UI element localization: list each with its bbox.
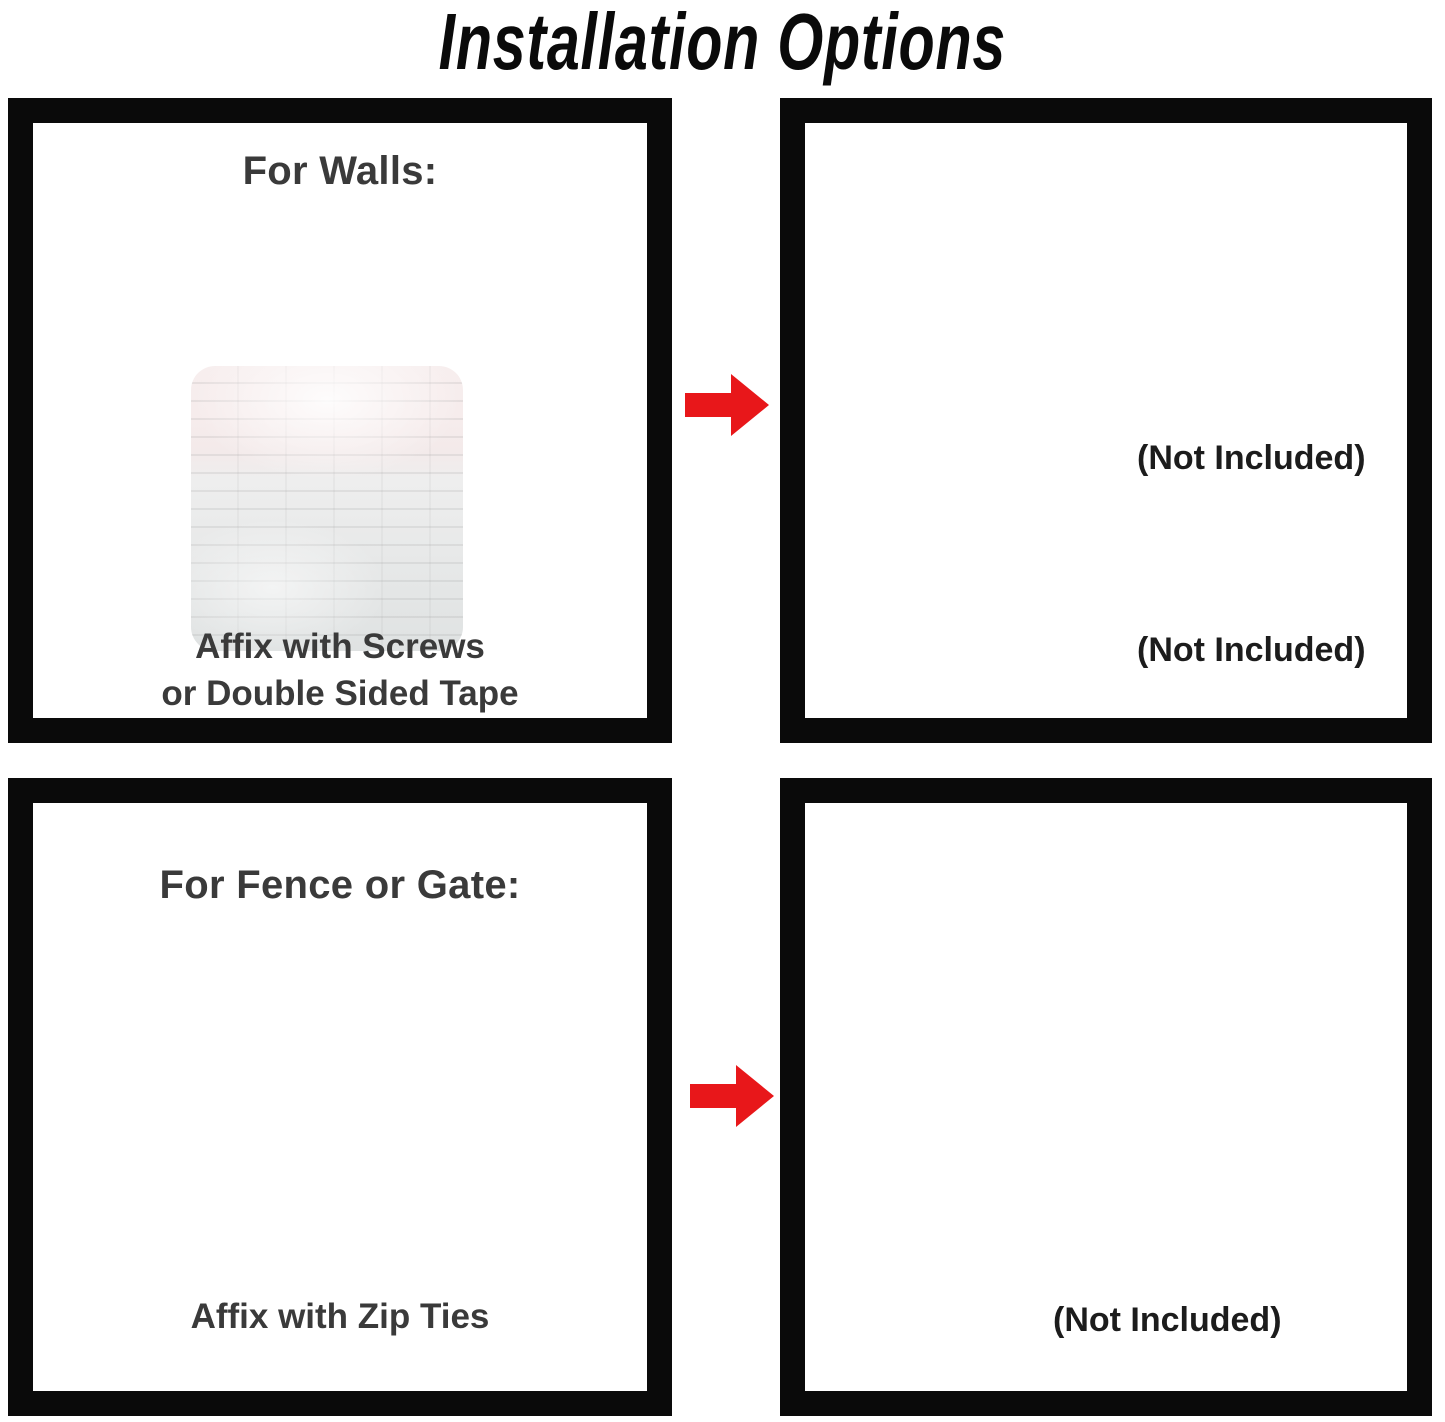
for-fence-caption-line1: Affix with Zip Ties — [33, 1293, 647, 1340]
screws-not-included-label: (Not Included) — [1137, 631, 1366, 670]
panel-for-walls-inner: For Walls: Affix with Screws or Double S… — [33, 123, 647, 718]
title-bar: Installation Options — [0, 0, 1445, 88]
panel-for-fence-inner: For Fence or Gate: — [33, 803, 647, 1391]
ziptie-not-included-label: (Not Included) — [1053, 1301, 1282, 1340]
white-brick-wall-photo — [191, 366, 463, 651]
red-right-arrow — [690, 1065, 774, 1127]
for-walls-caption-line1: Affix with Screws — [33, 623, 647, 670]
for-walls-caption-line2: or Double Sided Tape — [33, 670, 647, 717]
panel-for-walls: For Walls: Affix with Screws or Double S… — [8, 98, 672, 743]
red-right-arrow — [685, 374, 769, 436]
for-walls-heading: For Walls: — [33, 149, 647, 194]
for-fence-heading: For Fence or Gate: — [33, 863, 647, 908]
tape-not-included-label: (Not Included) — [1137, 439, 1366, 478]
panel-fence-hardware-inner: (Not Included) — [805, 803, 1407, 1391]
panel-for-fence-or-gate: For Fence or Gate: — [8, 778, 672, 1416]
panel-wall-hardware-inner: (Not Included) — [805, 123, 1407, 718]
panel-fence-hardware: (Not Included) — [780, 778, 1432, 1416]
panel-wall-hardware: (Not Included) — [780, 98, 1432, 743]
page-title: Installation Options — [439, 0, 1006, 86]
brick-whitewash-overlay — [191, 366, 463, 651]
